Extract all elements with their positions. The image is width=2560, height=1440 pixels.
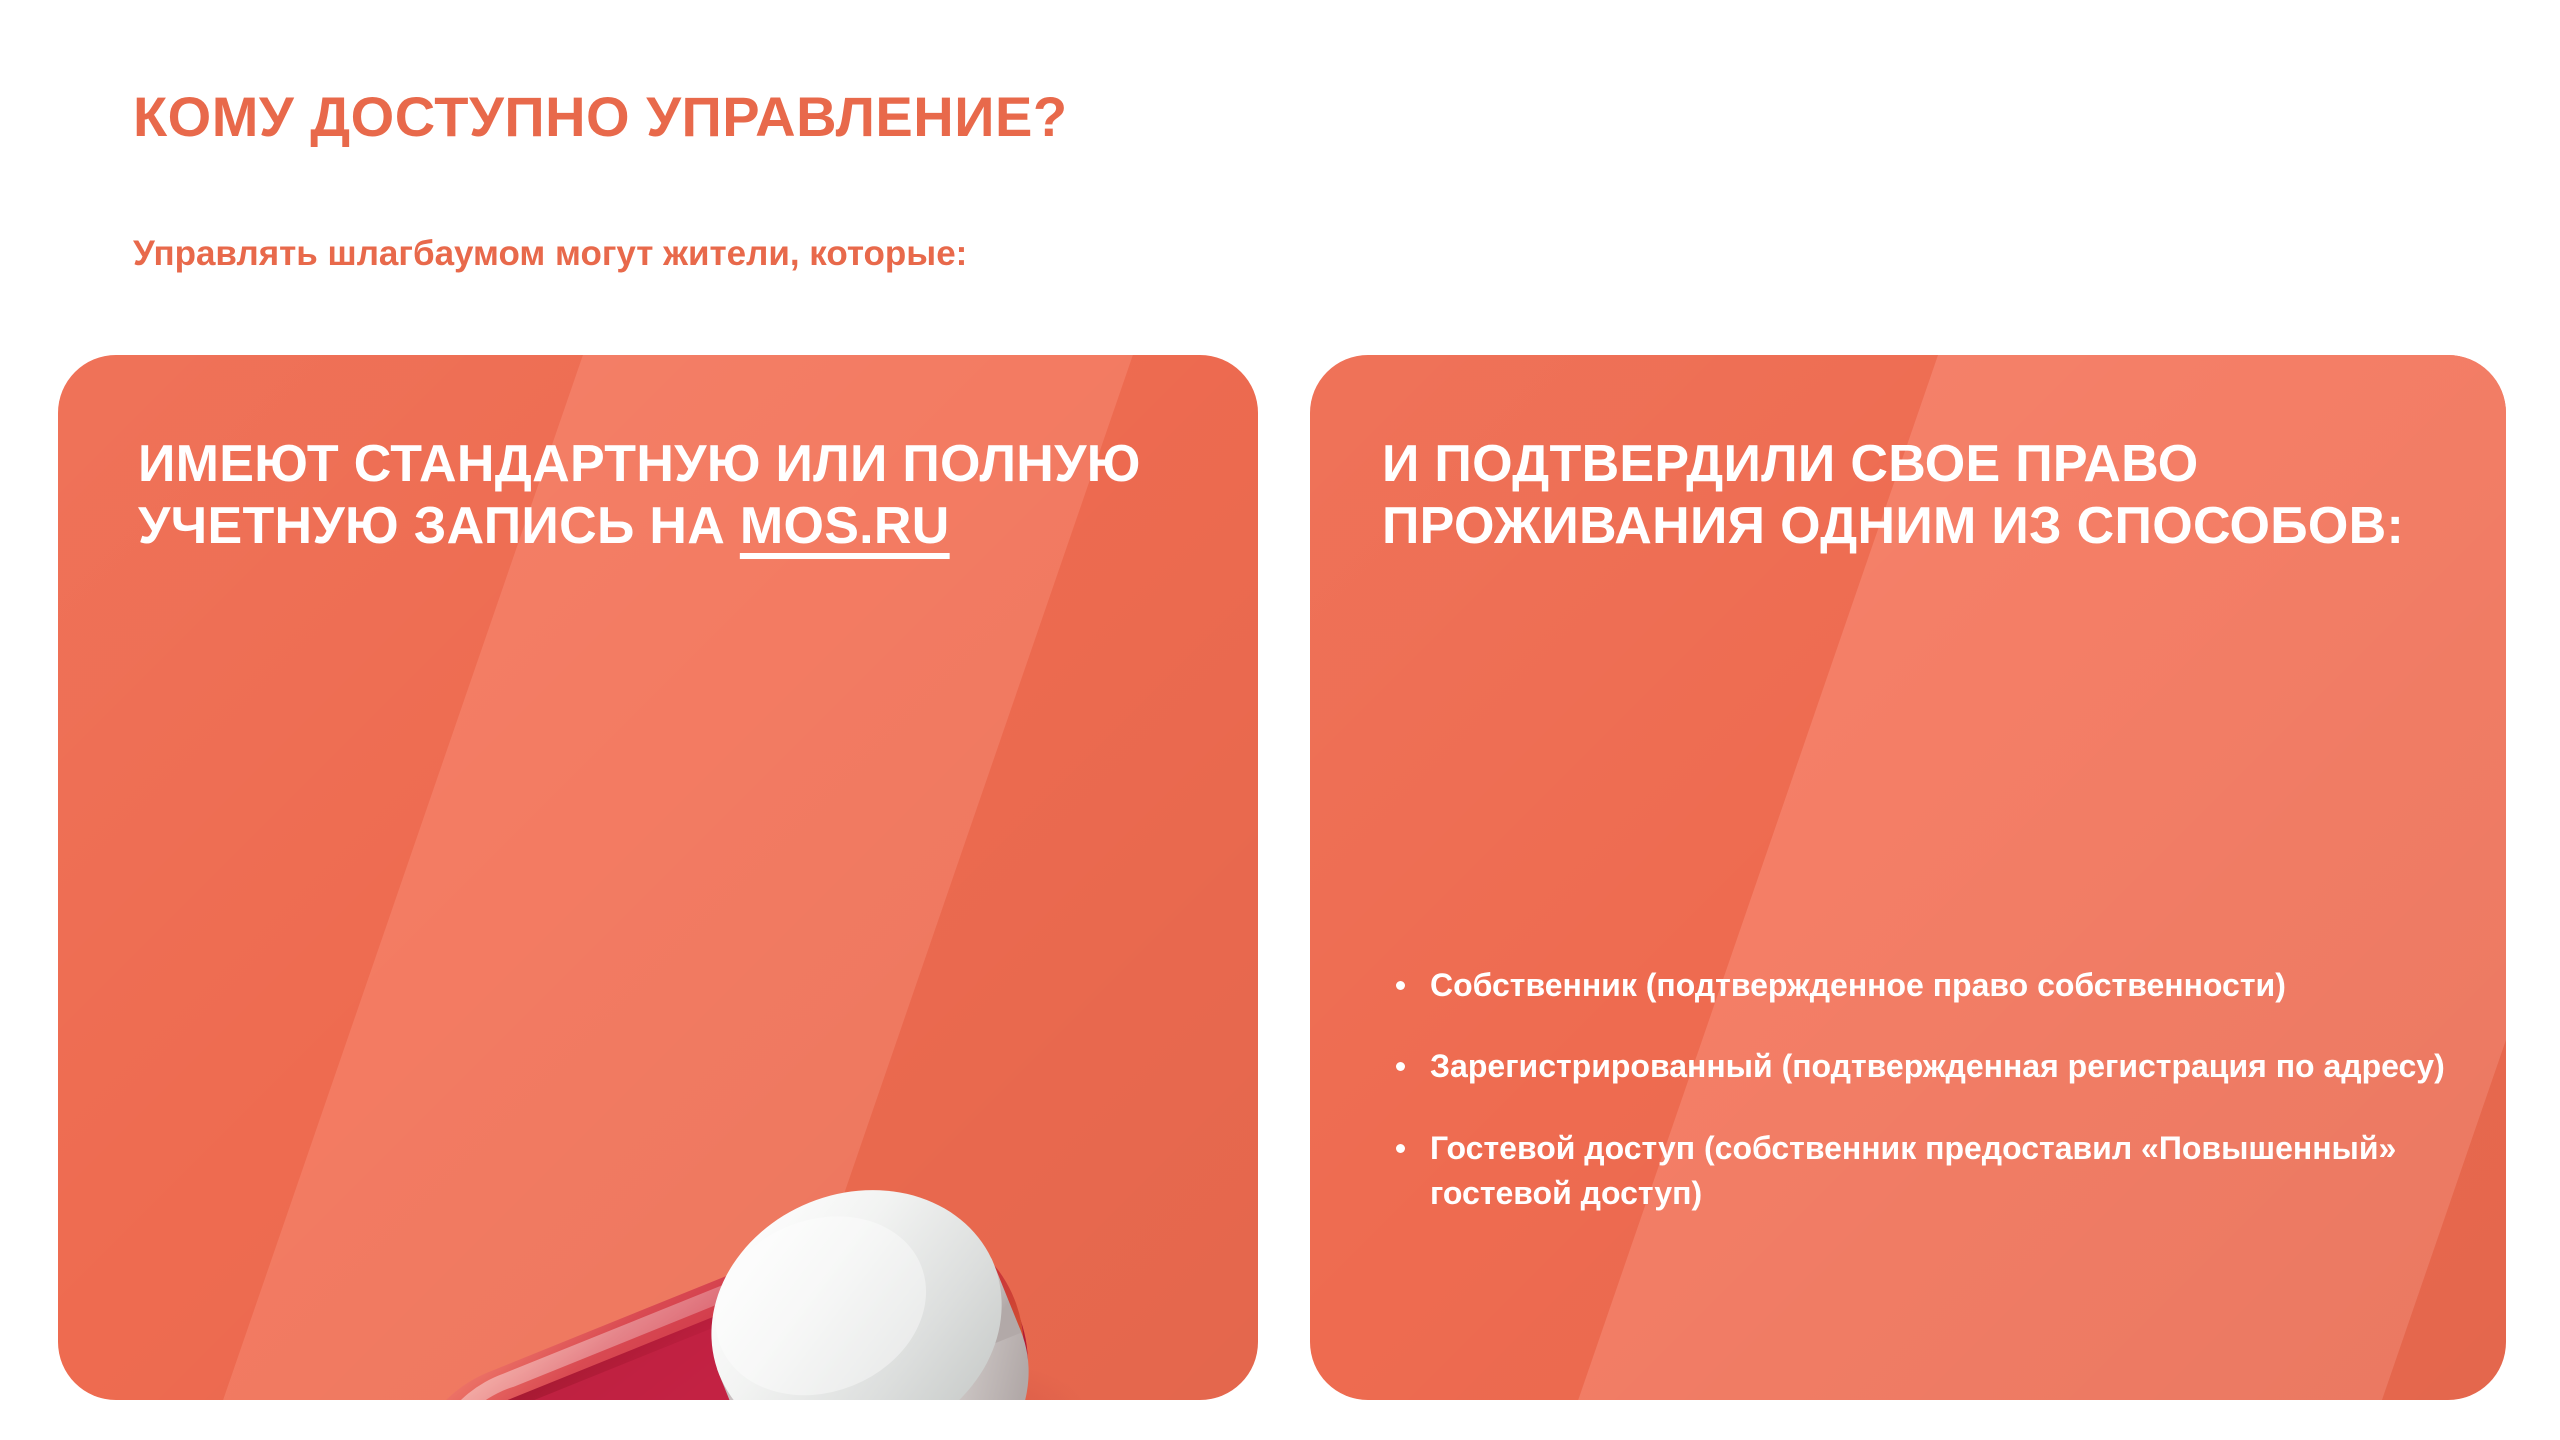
bullet-dot-icon (1396, 1062, 1405, 1071)
list-item-label: Собственник (подтвержденное право собств… (1430, 967, 2286, 1003)
list-item: Собственник (подтвержденное право собств… (1386, 963, 2448, 1008)
residency-proof-list: Собственник (подтвержденное право собств… (1386, 963, 2448, 1217)
slide-root: КОМУ ДОСТУПНО УПРАВЛЕНИЕ? Управлять шлаг… (0, 0, 2560, 1440)
list-item-label: Гостевой доступ (собственник предоставил… (1430, 1130, 2396, 1211)
list-item: Зарегистрированный (подтвержденная регис… (1386, 1044, 2448, 1089)
list-item-label: Зарегистрированный (подтвержденная регис… (1430, 1048, 2445, 1084)
card-account-requirement: ИМЕЮТ СТАНДАРТНУЮ ИЛИ ПОЛНУЮ УЧЕТНУЮ ЗАП… (58, 355, 1258, 1400)
toggle-switch-3d-illustration (313, 1125, 1123, 1400)
card-left-heading-text: ИМЕЮТ СТАНДАРТНУЮ ИЛИ ПОЛНУЮ УЧЕТНУЮ ЗАП… (138, 435, 1141, 555)
mos-ru-link[interactable]: MOS.RU (740, 497, 950, 555)
page-title: КОМУ ДОСТУПНО УПРАВЛЕНИЕ? (133, 88, 1068, 147)
bullet-dot-icon (1396, 1144, 1405, 1153)
card-right-heading: И ПОДТВЕРДИЛИ СВОЕ ПРАВО ПРОЖИВАНИЯ ОДНИ… (1382, 433, 2446, 558)
card-residency-proof: И ПОДТВЕРДИЛИ СВОЕ ПРАВО ПРОЖИВАНИЯ ОДНИ… (1310, 355, 2506, 1400)
card-left-heading: ИМЕЮТ СТАНДАРТНУЮ ИЛИ ПОЛНУЮ УЧЕТНУЮ ЗАП… (138, 433, 1198, 558)
list-item: Гостевой доступ (собственник предоставил… (1386, 1126, 2448, 1217)
page-subtitle: Управлять шлагбаумом могут жители, котор… (133, 233, 967, 275)
bullet-dot-icon (1396, 981, 1405, 990)
